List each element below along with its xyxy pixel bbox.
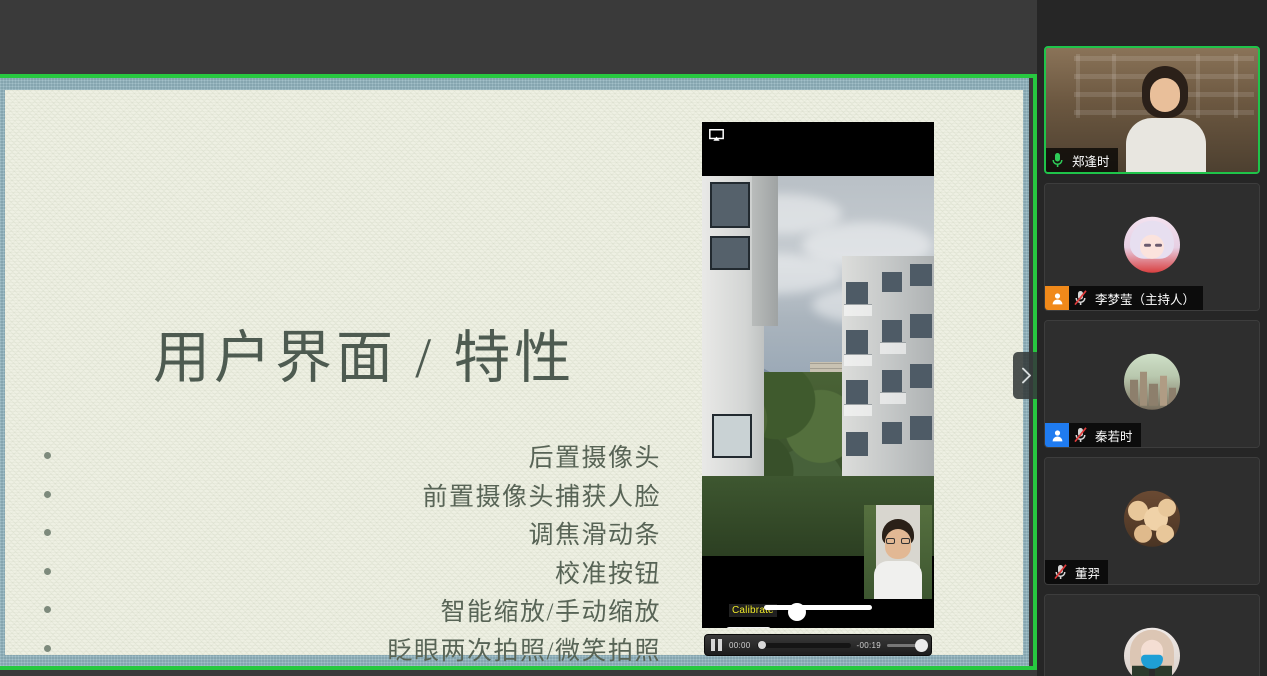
microphone-muted-icon — [1069, 423, 1091, 447]
bullet-dot-icon — [44, 606, 51, 613]
left-building-annex — [752, 176, 778, 326]
elapsed-time: 00:00 — [729, 641, 751, 650]
slide-bullet-list: 后置摄像头 前置摄像头捕获人脸 调焦滑动条 校准按钮 — [41, 438, 661, 669]
bullet-dot-icon — [44, 645, 51, 652]
participant-nameplate: 董羿 — [1045, 560, 1108, 584]
zoom-meeting-window: 用户界面 / 特性 后置摄像头 前置摄像头捕获人脸 调焦滑动条 — [0, 0, 1267, 676]
participant-tile-4[interactable] — [1044, 594, 1260, 676]
list-item: 前置摄像头捕获人脸 — [41, 477, 661, 516]
pause-icon[interactable] — [711, 639, 723, 651]
bullet-dot-icon — [44, 568, 51, 575]
avatar — [1124, 354, 1180, 410]
avatar — [1124, 628, 1180, 676]
bullet-dot-icon — [44, 452, 51, 459]
participant-tile-2[interactable]: 秦若时 — [1044, 320, 1260, 448]
bullet-dot-icon — [44, 529, 51, 536]
progress-knob[interactable] — [758, 641, 766, 649]
participant-flag-icon — [1045, 423, 1069, 447]
participants-rail[interactable]: 郑逢时 — [1037, 0, 1267, 676]
distance-readout: di: 7.22 — [726, 627, 771, 628]
microphone-on-icon — [1046, 148, 1068, 172]
list-item: 校准按钮 — [41, 554, 661, 593]
remaining-time: -00:19 — [857, 641, 881, 650]
participant-nameplate: 秦若时 — [1045, 423, 1141, 447]
list-item: 眨眼两次拍照/微笑拍照 — [41, 631, 661, 670]
bullet-label: 智能缩放/手动缩放 — [441, 592, 661, 628]
bullet-label: 眨眼两次拍照/微笑拍照 — [388, 631, 661, 667]
bullet-dot-icon — [44, 491, 51, 498]
video-player-controls[interactable]: 00:00 -00:19 — [704, 634, 932, 656]
participant-name: 郑逢时 — [1068, 151, 1110, 170]
microphone-muted-icon — [1069, 286, 1091, 310]
participant-nameplate: 郑逢时 — [1046, 148, 1118, 172]
bullet-label: 校准按钮 — [555, 554, 661, 590]
list-item: 后置摄像头 — [41, 438, 661, 477]
list-item: 调焦滑动条 — [41, 515, 661, 554]
microphone-muted-icon — [1049, 560, 1071, 584]
airplay-icon — [709, 129, 724, 142]
chevron-right-icon — [1021, 367, 1032, 384]
shared-screen-region: 用户界面 / 特性 后置摄像头 前置摄像头捕获人脸 调焦滑动条 — [0, 0, 1037, 676]
avatar — [1124, 217, 1180, 273]
participant-name: 李梦莹（主持人） — [1091, 289, 1195, 308]
bullet-label: 后置摄像头 — [528, 438, 661, 474]
avatar — [1124, 491, 1180, 547]
volume-slider[interactable] — [887, 644, 925, 647]
volume-knob[interactable] — [915, 639, 928, 652]
participant-tile-3[interactable]: 董羿 — [1044, 457, 1260, 585]
progress-slider[interactable] — [757, 643, 851, 648]
front-camera-pip[interactable] — [864, 505, 932, 599]
phone-status-band — [702, 122, 934, 176]
participant-nameplate: 李梦莹（主持人） — [1045, 286, 1203, 310]
shared-screen-letterbox — [0, 0, 1037, 74]
bullet-label: 前置摄像头捕获人脸 — [422, 477, 661, 513]
participant-tile-1[interactable]: 李梦莹（主持人） — [1044, 183, 1260, 311]
participant-name: 董羿 — [1071, 563, 1100, 582]
list-item: 智能缩放/手动缩放 — [41, 592, 661, 631]
phone-demo-video[interactable]: Calibrate di: 7.22 cd: 1.7 Capture Recor… — [702, 122, 934, 628]
participant-tile-0[interactable]: 郑逢时 — [1044, 46, 1260, 174]
bullet-label: 调焦滑动条 — [528, 515, 661, 551]
participant-name: 秦若时 — [1091, 426, 1133, 445]
host-flag-icon — [1045, 286, 1069, 310]
collapse-panel-button[interactable] — [1013, 352, 1037, 399]
home-indicator — [764, 605, 872, 610]
slide-title: 用户界面 / 特性 — [153, 312, 575, 394]
